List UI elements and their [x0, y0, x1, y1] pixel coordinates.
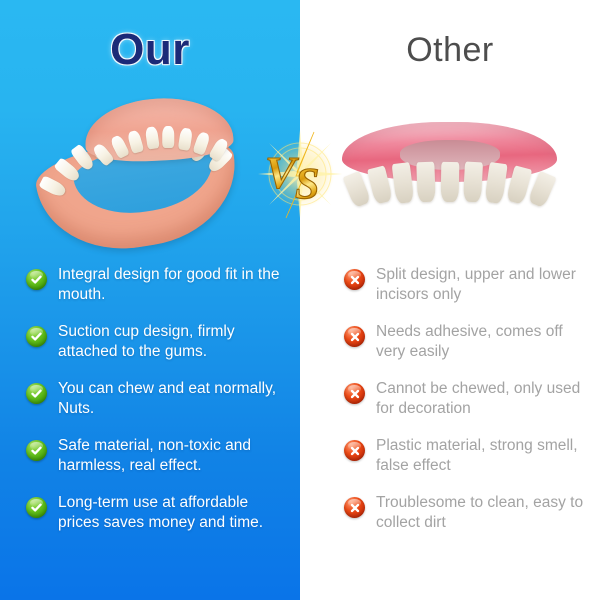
check-circle-icon [26, 497, 47, 518]
x-glyph [349, 445, 361, 457]
check-circle-icon [26, 440, 47, 461]
list-item: Needs adhesive, comes off very easily [344, 322, 586, 362]
comparison-infographic: Our [0, 0, 600, 600]
list-item-label: Cannot be chewed, only used for decorati… [376, 379, 586, 419]
check-circle-icon [26, 326, 47, 347]
other-product-image [300, 100, 600, 265]
list-item-label: Suction cup design, firmly attached to t… [58, 322, 286, 362]
x-glyph [349, 388, 361, 400]
x-circle-icon [344, 383, 365, 404]
list-item-label: Safe material, non-toxic and harmless, r… [58, 436, 286, 476]
list-item-label: Troublesome to clean, easy to collect di… [376, 493, 586, 533]
list-item: Long-term use at affordable prices saves… [26, 493, 286, 533]
list-item: Split design, upper and lower incisors o… [344, 265, 586, 305]
our-feature-list: Integral design for good fit in the mout… [0, 265, 300, 533]
check-circle-icon [26, 269, 47, 290]
check-glyph [30, 444, 43, 457]
list-item: Troublesome to clean, easy to collect di… [344, 493, 586, 533]
list-item: Safe material, non-toxic and harmless, r… [26, 436, 286, 476]
full-denture-icon [18, 85, 264, 268]
other-feature-list: Split design, upper and lower incisors o… [300, 265, 600, 533]
list-item: You can chew and eat normally, Nuts. [26, 379, 286, 419]
other-title: Other [406, 31, 494, 70]
our-panel: Our [0, 0, 300, 600]
list-item: Suction cup design, firmly attached to t… [26, 322, 286, 362]
list-item-label: You can chew and eat normally, Nuts. [58, 379, 286, 419]
check-glyph [30, 387, 43, 400]
other-panel: Other [300, 0, 600, 600]
x-glyph [349, 502, 361, 514]
our-title: Our [110, 25, 190, 75]
check-glyph [30, 501, 43, 514]
our-header: Our [0, 0, 300, 100]
list-item-label: Integral design for good fit in the mout… [58, 265, 286, 305]
list-item-label: Plastic material, strong smell, false ef… [376, 436, 586, 476]
other-header: Other [300, 0, 600, 100]
x-circle-icon [344, 497, 365, 518]
list-item-label: Long-term use at affordable prices saves… [58, 493, 286, 533]
our-product-image [0, 100, 300, 265]
list-item-label: Split design, upper and lower incisors o… [376, 265, 586, 305]
x-circle-icon [344, 326, 365, 347]
x-glyph [349, 274, 361, 286]
veneer-denture-icon [342, 122, 557, 214]
list-item: Cannot be chewed, only used for decorati… [344, 379, 586, 419]
list-item: Plastic material, strong smell, false ef… [344, 436, 586, 476]
check-circle-icon [26, 383, 47, 404]
veneer-teeth-row [348, 162, 551, 212]
x-glyph [349, 331, 361, 343]
list-item-label: Needs adhesive, comes off very easily [376, 322, 586, 362]
check-glyph [30, 330, 43, 343]
x-circle-icon [344, 269, 365, 290]
list-item: Integral design for good fit in the mout… [26, 265, 286, 305]
check-glyph [30, 273, 43, 286]
x-circle-icon [344, 440, 365, 461]
